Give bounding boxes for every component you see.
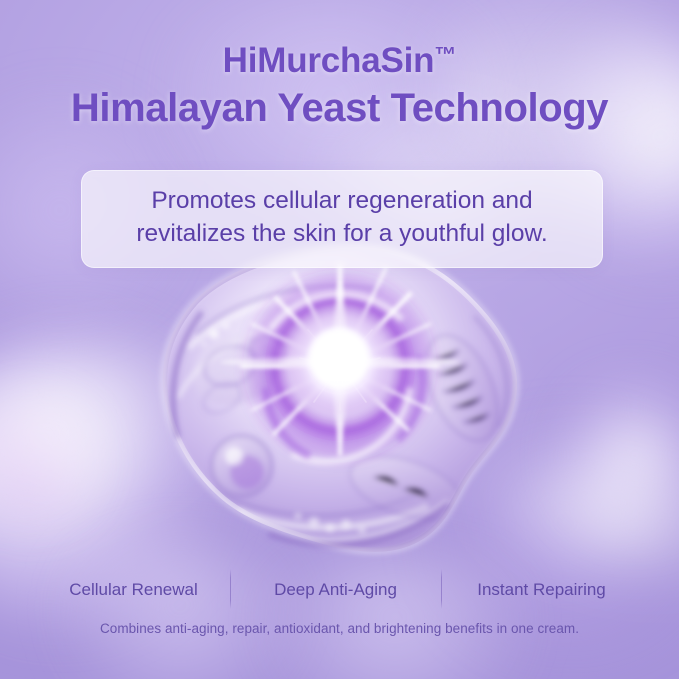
subtitle-text: Promotes cellular regeneration and revit… [98, 185, 586, 251]
title-block: HiMurchaSin™ Himalayan Yeast Technology [0, 40, 679, 133]
subtitle-card: Promotes cellular regeneration and revit… [81, 170, 603, 268]
page-title-line2: Himalayan Yeast Technology [0, 84, 679, 133]
poster-canvas: HiMurchaSin™ Himalayan Yeast Technology … [0, 0, 679, 679]
page-title-line1: HiMurchaSin™ [0, 40, 679, 82]
feature-list: Cellular Renewal Deep Anti-Aging Instant… [0, 572, 679, 606]
brand-name: HiMurchaSin [223, 41, 435, 80]
trademark-symbol: ™ [434, 42, 456, 67]
feature-item-instant-repairing: Instant Repairing [442, 581, 642, 598]
feature-item-cellular-renewal: Cellular Renewal [38, 581, 230, 598]
feature-item-deep-anti-aging: Deep Anti-Aging [231, 581, 441, 598]
footer-caption: Combines anti-aging, repair, antioxidant… [0, 621, 679, 636]
